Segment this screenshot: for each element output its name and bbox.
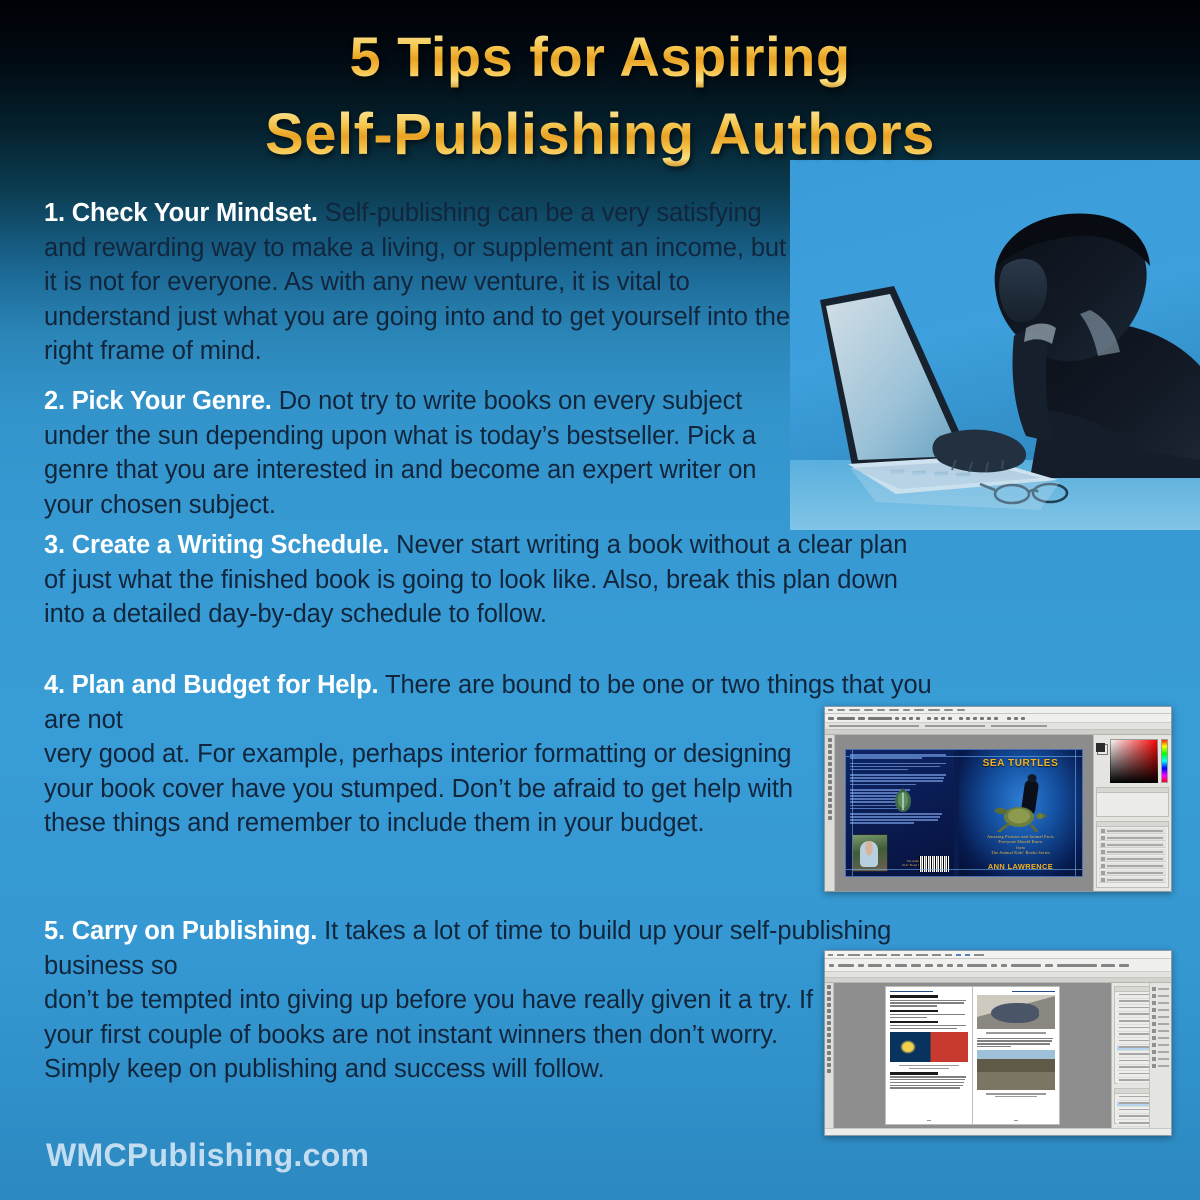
title-line-2: Self-Publishing Authors [0,96,1200,174]
book-front-cover: SEA TURTLES Amazing Pictures [959,750,1082,876]
dock-item[interactable] [1152,1043,1169,1047]
layout-guide [1075,750,1076,876]
page-number [886,1120,972,1122]
dock-item[interactable] [1152,994,1169,998]
tip-2-text: 2. Pick Your Genre. Do not try to write … [44,384,794,522]
dock-item[interactable] [1152,1008,1169,1012]
hue-slider[interactable] [1161,739,1168,783]
layer-row[interactable] [1099,828,1166,834]
site-watermark: WMCPublishing.com [46,1137,369,1174]
tip-3-lead: 3. Create a Writing Schedule. [44,531,389,559]
photoshop-panels[interactable] [1093,735,1171,891]
tip-4-text-head: 4. Plan and Budget for Help. There are b… [44,668,954,737]
photo-caption [986,1093,1047,1094]
book-title: SEA TURTLES [959,758,1082,769]
foreground-background-color-swatch[interactable] [1096,743,1105,752]
dock-item[interactable] [1152,1029,1169,1033]
tip-item-2: 2. Pick Your Genre. Do not try to write … [44,384,794,522]
tip-5-body-rest: don’t be tempted into giving up before y… [44,983,814,1087]
layer-row[interactable] [1099,877,1166,883]
indesign-panel-dock[interactable] [1149,983,1171,1128]
layout-guide [846,869,1082,870]
dock-item[interactable] [1152,1015,1169,1019]
tip-4-body-rest: very good at. For example, perhaps inter… [44,737,804,841]
dock-item[interactable] [1152,1022,1169,1026]
tip-5-lead: 5. Carry on Publishing. [44,917,317,945]
tip-1-lead: 1. Check Your Mindset. [44,199,318,227]
color-picker-panel[interactable] [1110,739,1158,783]
panel-tab-strip[interactable] [1097,788,1168,793]
photo-caption [995,1096,1037,1097]
tip-item-3: 3. Create a Writing Schedule. Never star… [44,528,924,632]
tip-2-lead: 2. Pick Your Genre. [44,387,272,415]
page-title: 5 Tips for Aspiring Self-Publishing Auth… [0,18,1200,174]
dock-item[interactable] [1152,1064,1169,1068]
dock-item[interactable] [1152,1057,1169,1061]
indesign-status-bar [825,1128,1171,1135]
layer-row[interactable] [1099,835,1166,841]
hero-photo-man-at-laptop [790,160,1200,530]
adjustments-panel[interactable] [1096,787,1169,817]
tip-item-5: 5. Carry on Publishing. It takes a lot o… [44,914,964,1087]
layer-row[interactable] [1099,842,1166,848]
tip-item-1: 1. Check Your Mindset. Self-publishing c… [44,196,804,369]
tip-item-4: 4. Plan and Budget for Help. There are b… [44,668,954,841]
tip-5-text-head: 5. Carry on Publishing. It takes a lot o… [44,914,964,983]
dock-item[interactable] [1152,1036,1169,1040]
spread-right-page[interactable] [973,987,1059,1124]
photo-frame-beach-turtles[interactable] [977,1050,1055,1090]
sea-turtle-photo [993,802,1049,832]
dock-item[interactable] [1152,1001,1169,1005]
tip-4-lead: 4. Plan and Budget for Help. [44,671,378,699]
infographic-poster: 5 Tips for Aspiring Self-Publishing Auth… [0,0,1200,1200]
dock-item[interactable] [1152,987,1169,991]
panel-tab-strip[interactable] [1097,822,1168,827]
layer-row[interactable] [1099,870,1166,876]
page-number [973,1120,1059,1122]
title-line-1: 5 Tips for Aspiring [0,18,1200,96]
book-subtitle: Amazing Pictures and Animal Facts Everyo… [963,834,1078,856]
dock-item[interactable] [1152,1050,1169,1054]
layers-panel[interactable] [1096,821,1169,888]
photo-caption [986,1032,1047,1033]
tip-3-text: 3. Create a Writing Schedule. Never star… [44,528,924,632]
layer-row[interactable] [1099,856,1166,862]
photo-frame-turtle[interactable] [977,995,1055,1029]
tip-1-text: 1. Check Your Mindset. Self-publishing c… [44,196,804,369]
layer-row[interactable] [1099,849,1166,855]
layer-row[interactable] [1099,863,1166,869]
running-header [1012,991,1055,992]
man-at-laptop-illustration [790,160,1200,530]
